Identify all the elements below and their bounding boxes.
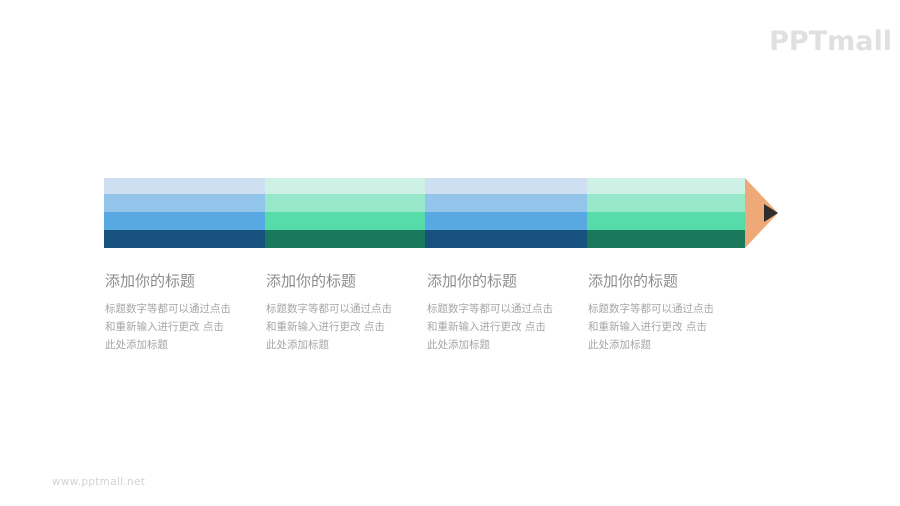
pencil-segment-3[interactable]	[425, 178, 587, 248]
description-column-4: 添加你的标题 标题数字等都可以通过点击 和重新输入进行更改 点击 此处添加标题	[587, 272, 748, 372]
pencil-band-1-2	[104, 194, 265, 212]
column-body-1-line-3: 此处添加标题	[105, 336, 255, 354]
pencil-band-4-3	[587, 212, 745, 230]
column-body-4-line-2: 和重新输入进行更改 点击	[588, 318, 738, 336]
column-body-3-line-2: 和重新输入进行更改 点击	[427, 318, 577, 336]
pencil-band-4-2	[587, 194, 745, 212]
column-body-3-line-1: 标题数字等都可以通过点击	[427, 300, 577, 318]
column-title-2: 添加你的标题	[266, 272, 426, 291]
pptmall-logo-text: PPTmall	[769, 28, 892, 55]
pencil-band-1-3	[104, 212, 265, 230]
column-body-4: 标题数字等都可以通过点击 和重新输入进行更改 点击 此处添加标题	[588, 300, 738, 354]
footer-url: www.pptmall.net	[52, 476, 145, 488]
column-title-1: 添加你的标题	[105, 272, 265, 291]
pencil-band-4-1	[587, 178, 745, 194]
pencil-band-2-1	[265, 178, 425, 194]
column-body-2-line-2: 和重新输入进行更改 点击	[266, 318, 416, 336]
pencil-band-4-4	[587, 230, 745, 248]
column-body-1: 标题数字等都可以通过点击 和重新输入进行更改 点击 此处添加标题	[105, 300, 255, 354]
column-title-4: 添加你的标题	[588, 272, 748, 291]
pencil-band-3-4	[425, 230, 587, 248]
column-body-3-line-3: 此处添加标题	[427, 336, 577, 354]
column-body-4-line-3: 此处添加标题	[588, 336, 738, 354]
description-column-3: 添加你的标题 标题数字等都可以通过点击 和重新输入进行更改 点击 此处添加标题	[426, 272, 587, 372]
pencil-band-2-3	[265, 212, 425, 230]
pencil-segment-2[interactable]	[265, 178, 425, 248]
column-body-1-line-2: 和重新输入进行更改 点击	[105, 318, 255, 336]
pencil-body	[104, 178, 745, 248]
pencil-band-2-4	[265, 230, 425, 248]
pencil-band-3-2	[425, 194, 587, 212]
pencil-segment-4[interactable]	[587, 178, 745, 248]
pencil-segment-1[interactable]	[104, 178, 265, 248]
description-column-1: 添加你的标题 标题数字等都可以通过点击 和重新输入进行更改 点击 此处添加标题	[104, 272, 265, 372]
pencil-band-3-3	[425, 212, 587, 230]
column-body-2: 标题数字等都可以通过点击 和重新输入进行更改 点击 此处添加标题	[266, 300, 416, 354]
pencil-process-diagram	[104, 178, 778, 248]
pencil-band-3-1	[425, 178, 587, 194]
pencil-tip	[745, 178, 778, 248]
pencil-band-1-4	[104, 230, 265, 248]
pencil-band-2-2	[265, 194, 425, 212]
description-column-2: 添加你的标题 标题数字等都可以通过点击 和重新输入进行更改 点击 此处添加标题	[265, 272, 426, 372]
column-body-1-line-1: 标题数字等都可以通过点击	[105, 300, 255, 318]
slide-canvas: PPTmall	[0, 0, 900, 506]
column-body-3: 标题数字等都可以通过点击 和重新输入进行更改 点击 此处添加标题	[427, 300, 577, 354]
column-body-2-line-1: 标题数字等都可以通过点击	[266, 300, 416, 318]
column-body-2-line-3: 此处添加标题	[266, 336, 416, 354]
column-title-3: 添加你的标题	[427, 272, 587, 291]
pptmall-logo: PPTmall	[772, 24, 892, 58]
pencil-band-1-1	[104, 178, 265, 194]
description-columns: 添加你的标题 标题数字等都可以通过点击 和重新输入进行更改 点击 此处添加标题 …	[104, 272, 778, 372]
column-body-4-line-1: 标题数字等都可以通过点击	[588, 300, 738, 318]
